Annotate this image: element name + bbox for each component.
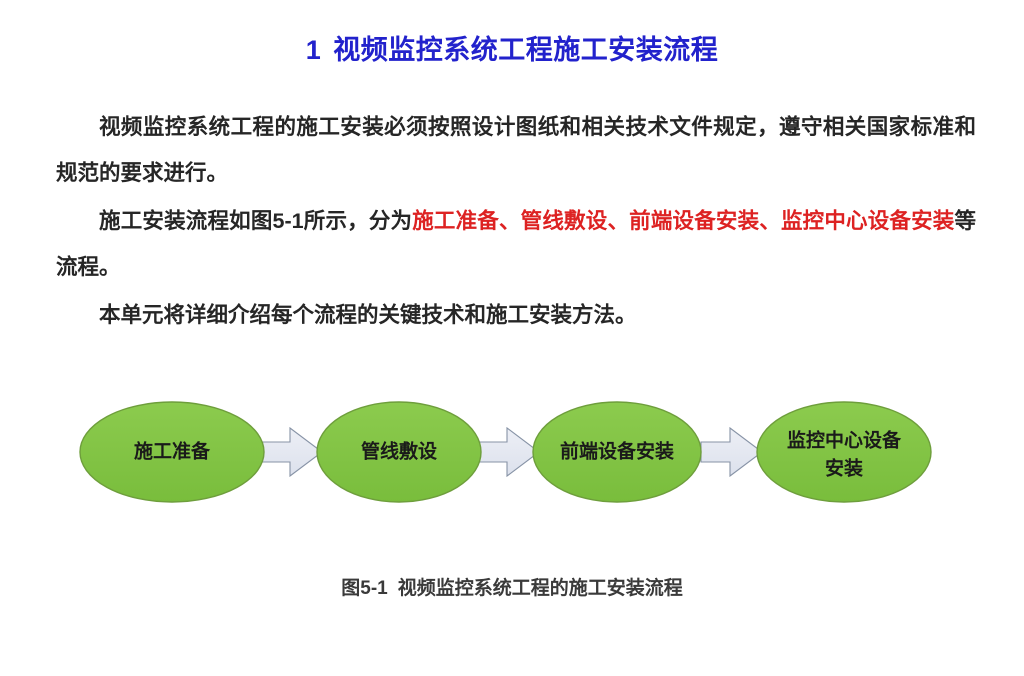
flow-node-4[interactable]: 监控中心设备 安装 xyxy=(757,402,931,502)
arrow-3 xyxy=(701,428,762,476)
figure-caption: 图5-1视频监控系统工程的施工安装流程 xyxy=(0,573,1024,600)
flow-node-2-label: 管线敷设 xyxy=(361,440,437,463)
flow-node-4-shape xyxy=(757,402,931,502)
figure-caption-number: 图5-1 xyxy=(341,578,387,599)
page-title-text: 视频监控系统工程施工安装流程 xyxy=(333,35,718,65)
paragraph-3: 本单元将详细介绍每个流程的关键技术和施工安装方法。 xyxy=(56,292,976,338)
arrow-2 xyxy=(478,428,539,476)
flow-node-3-label: 前端设备安装 xyxy=(560,440,674,463)
body-copy: 视频监控系统工程的施工安装必须按照设计图纸和相关技术文件规定，遵守相关国家标准和… xyxy=(56,104,976,338)
flow-node-3[interactable]: 前端设备安装 xyxy=(533,402,701,502)
figure-caption-text: 视频监控系统工程的施工安装流程 xyxy=(398,578,683,599)
flow-node-1-label: 施工准备 xyxy=(134,440,211,463)
flow-node-4-label-line2: 安装 xyxy=(825,457,863,480)
paragraph-1: 视频监控系统工程的施工安装必须按照设计图纸和相关技术文件规定，遵守相关国家标准和… xyxy=(56,104,976,196)
paragraph-2: 施工安装流程如图5-1所示，分为施工准备、管线敷设、前端设备安装、监控中心设备安… xyxy=(56,198,976,290)
paragraph-2-lead: 施工安装流程如图5-1所示，分为 xyxy=(99,209,412,233)
page-title-number: 1 xyxy=(306,35,322,65)
page-title: 1视频监控系统工程施工安装流程 xyxy=(0,28,1024,67)
arrow-1 xyxy=(261,428,322,476)
flow-node-1[interactable]: 施工准备 xyxy=(80,402,264,502)
slide-canvas: 1视频监控系统工程施工安装流程 视频监控系统工程的施工安装必须按照设计图纸和相关… xyxy=(0,0,1024,676)
process-flow-diagram: 施工准备 管线敷设 前端设备安装 监控中心设备 安装 xyxy=(60,390,964,515)
flow-diagram-svg: 施工准备 管线敷设 前端设备安装 监控中心设备 安装 xyxy=(60,390,964,515)
paragraph-2-highlight: 施工准备、管线敷设、前端设备安装、监控中心设备安装 xyxy=(412,209,954,233)
flow-node-2[interactable]: 管线敷设 xyxy=(317,402,481,502)
flow-node-4-label-line1: 监控中心设备 xyxy=(787,429,902,452)
